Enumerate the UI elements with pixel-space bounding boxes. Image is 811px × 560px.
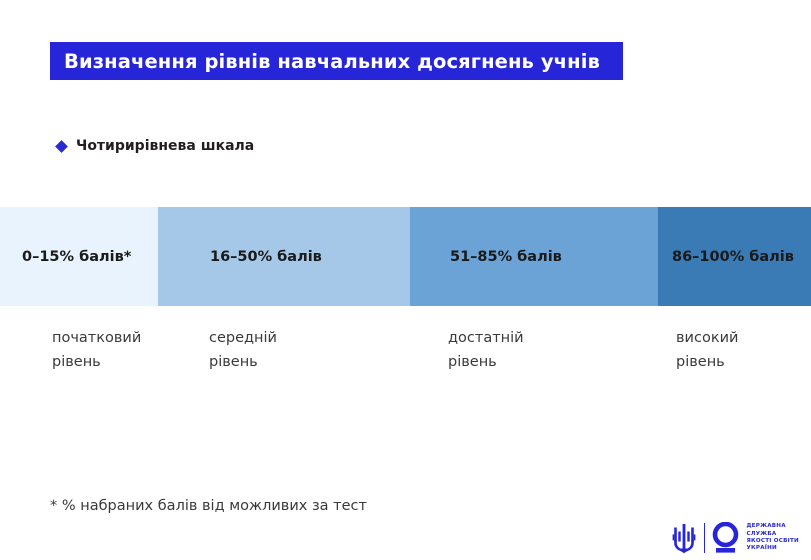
scale-band: 51–85% балів: [410, 207, 658, 306]
level-caption-line1: високий: [676, 326, 738, 350]
organization-logo: ДЕРЖАВНА СЛУЖБА ЯКОСТІ ОСВІТИ УКРАЇНИ: [671, 519, 799, 557]
ukrainian-trident-icon: [671, 522, 697, 554]
footnote-text: * % набраних балів від можливих за тест: [50, 498, 367, 514]
diamond-bullet-icon: [55, 140, 68, 153]
logo-line-1: ДЕРЖАВНА: [746, 523, 799, 530]
subtitle-row: Чотирирівнева шкала: [57, 138, 254, 154]
level-caption-row: початковий рівень середній рівень достат…: [0, 326, 811, 386]
band-range-label: 51–85% балів: [450, 249, 562, 265]
logo-wordmark: ДЕРЖАВНА СЛУЖБА ЯКОСТІ ОСВІТИ УКРАЇНИ: [746, 523, 799, 553]
band-range-label: 16–50% балів: [210, 249, 322, 265]
level-caption: середній рівень: [209, 326, 277, 374]
subtitle-label: Чотирирівнева шкала: [76, 138, 254, 154]
level-caption-line1: достатній: [448, 326, 524, 350]
level-caption: високий рівень: [676, 326, 738, 374]
logo-line-2: СЛУЖБА: [746, 531, 799, 538]
logo-line-4: УКРАЇНИ: [746, 545, 799, 552]
slide-title-banner: Визначення рівнів навчальних досягнень у…: [50, 42, 623, 80]
level-caption-line2: рівень: [52, 350, 141, 374]
scale-band: 86–100% балів: [658, 207, 811, 306]
band-range-label: 0–15% балів*: [22, 249, 131, 265]
scale-band-strip: 0–15% балів* 16–50% балів 51–85% балів 8…: [0, 207, 811, 306]
sqe-circle-mark-icon: [712, 522, 739, 554]
level-caption-line2: рівень: [448, 350, 524, 374]
level-caption: достатній рівень: [448, 326, 524, 374]
level-caption-line2: рівень: [676, 350, 738, 374]
scale-band: 0–15% балів*: [0, 207, 158, 306]
logo-divider: [704, 523, 705, 553]
level-caption-line1: середній: [209, 326, 277, 350]
level-caption-line1: початковий: [52, 326, 141, 350]
level-caption: початковий рівень: [52, 326, 141, 374]
page-title: Визначення рівнів навчальних досягнень у…: [64, 50, 600, 73]
level-caption-line2: рівень: [209, 350, 277, 374]
band-range-label: 86–100% балів: [672, 249, 794, 265]
scale-band: 16–50% балів: [158, 207, 410, 306]
